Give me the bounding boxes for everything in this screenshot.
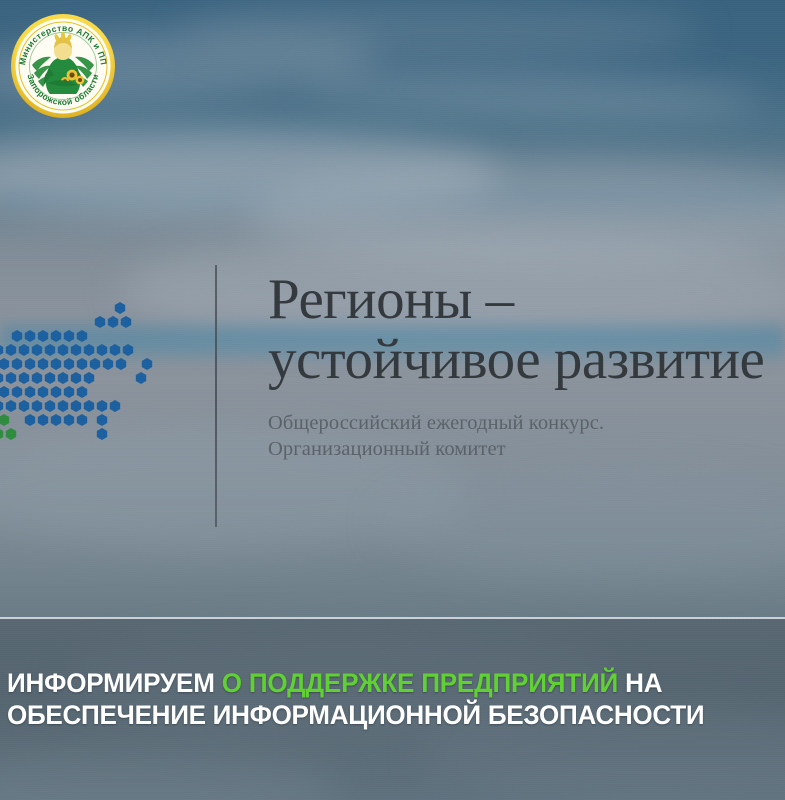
- russia-dot-map-icon: [0, 300, 172, 490]
- upper-haze-band: [0, 180, 785, 214]
- logo-text-block: Регионы – устойчивое развитие Общероссий…: [268, 270, 785, 462]
- caption-line-1: ИНФОРМИРУЕМ О ПОДДЕРЖКЕ ПРЕДПРИЯТИЙ НА: [7, 667, 755, 699]
- logo-subtitle-line-1: Общероссийский ежегодный конкурс.: [268, 410, 785, 436]
- promo-banner-screenshot: Министерство АПК и ПП Запорожской област…: [0, 0, 785, 800]
- caption-line-1-lead: ИНФОРМИРУЕМ: [7, 668, 222, 698]
- logo-subtitle-line-2: Организационный комитет: [268, 436, 785, 462]
- logo-title-line-1: Регионы –: [268, 270, 785, 330]
- contest-logo-lockup: Регионы – устойчивое развитие Общероссий…: [0, 262, 785, 530]
- logo-title-line-2: устойчивое развитие: [268, 330, 785, 390]
- caption-line-1-tail: НА: [618, 668, 662, 698]
- caption-line-1-accent: О ПОДДЕРЖКЕ ПРЕДПРИЯТИЙ: [222, 668, 618, 698]
- logo-vertical-divider: [215, 265, 217, 527]
- logo-subtitle: Общероссийский ежегодный конкурс. Органи…: [268, 410, 785, 462]
- ministry-emblem: Министерство АПК и ПП Запорожской област…: [10, 13, 116, 119]
- caption-text: ИНФОРМИРУЕМ О ПОДДЕРЖКЕ ПРЕДПРИЯТИЙ НА О…: [7, 667, 755, 731]
- caption-line-2: ОБЕСПЕЧЕНИЕ ИНФОРМАЦИОННОЙ БЕЗОПАСНОСТИ: [7, 699, 755, 731]
